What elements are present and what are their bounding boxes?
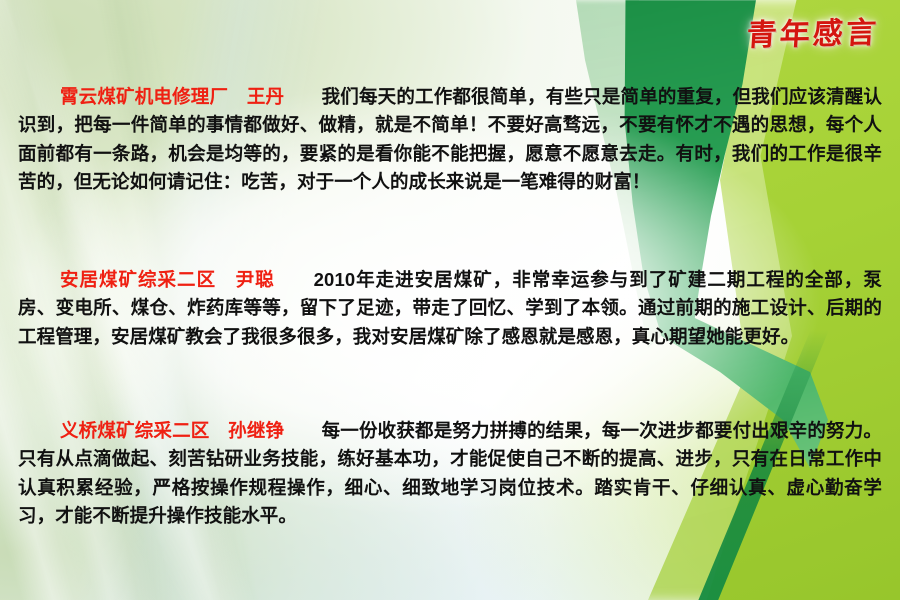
speaker-unit: 安居煤矿综采二区 <box>60 269 216 290</box>
speaker-separator <box>228 86 247 107</box>
testimonial-entry: 义桥煤矿综采二区 孙继铮 每一份收获都是努力拼搏的结果，每一次进步都要付出艰辛的… <box>18 417 882 531</box>
testimonial-list: 霄云煤矿机电修理厂 王丹 我们每天的工作都很简单，有些只是简单的重复，但我们应该… <box>0 0 900 600</box>
slide-canvas: 青年感言 霄云煤矿机电修理厂 王丹 我们每天的工作都很简单，有些只是简单的重复，… <box>0 0 900 600</box>
speaker-unit: 义桥煤矿综采二区 <box>60 420 209 441</box>
speaker-text-gap <box>275 269 314 290</box>
speaker-separator <box>216 269 236 290</box>
speaker-text-gap <box>284 420 321 441</box>
speaker-name: 王丹 <box>247 86 284 107</box>
testimonial-entry: 霄云煤矿机电修理厂 王丹 我们每天的工作都很简单，有些只是简单的重复，但我们应该… <box>18 83 882 197</box>
speaker-separator <box>209 420 228 441</box>
speaker-name: 孙继铮 <box>228 420 284 441</box>
speaker-text-gap <box>284 86 321 107</box>
speaker-name: 尹聪 <box>236 269 275 290</box>
testimonial-entry: 安居煤矿综采二区 尹聪 2010年走进安居煤矿，非常幸运参与到了矿建二期工程的全… <box>18 266 882 352</box>
speaker-unit: 霄云煤矿机电修理厂 <box>60 86 228 107</box>
